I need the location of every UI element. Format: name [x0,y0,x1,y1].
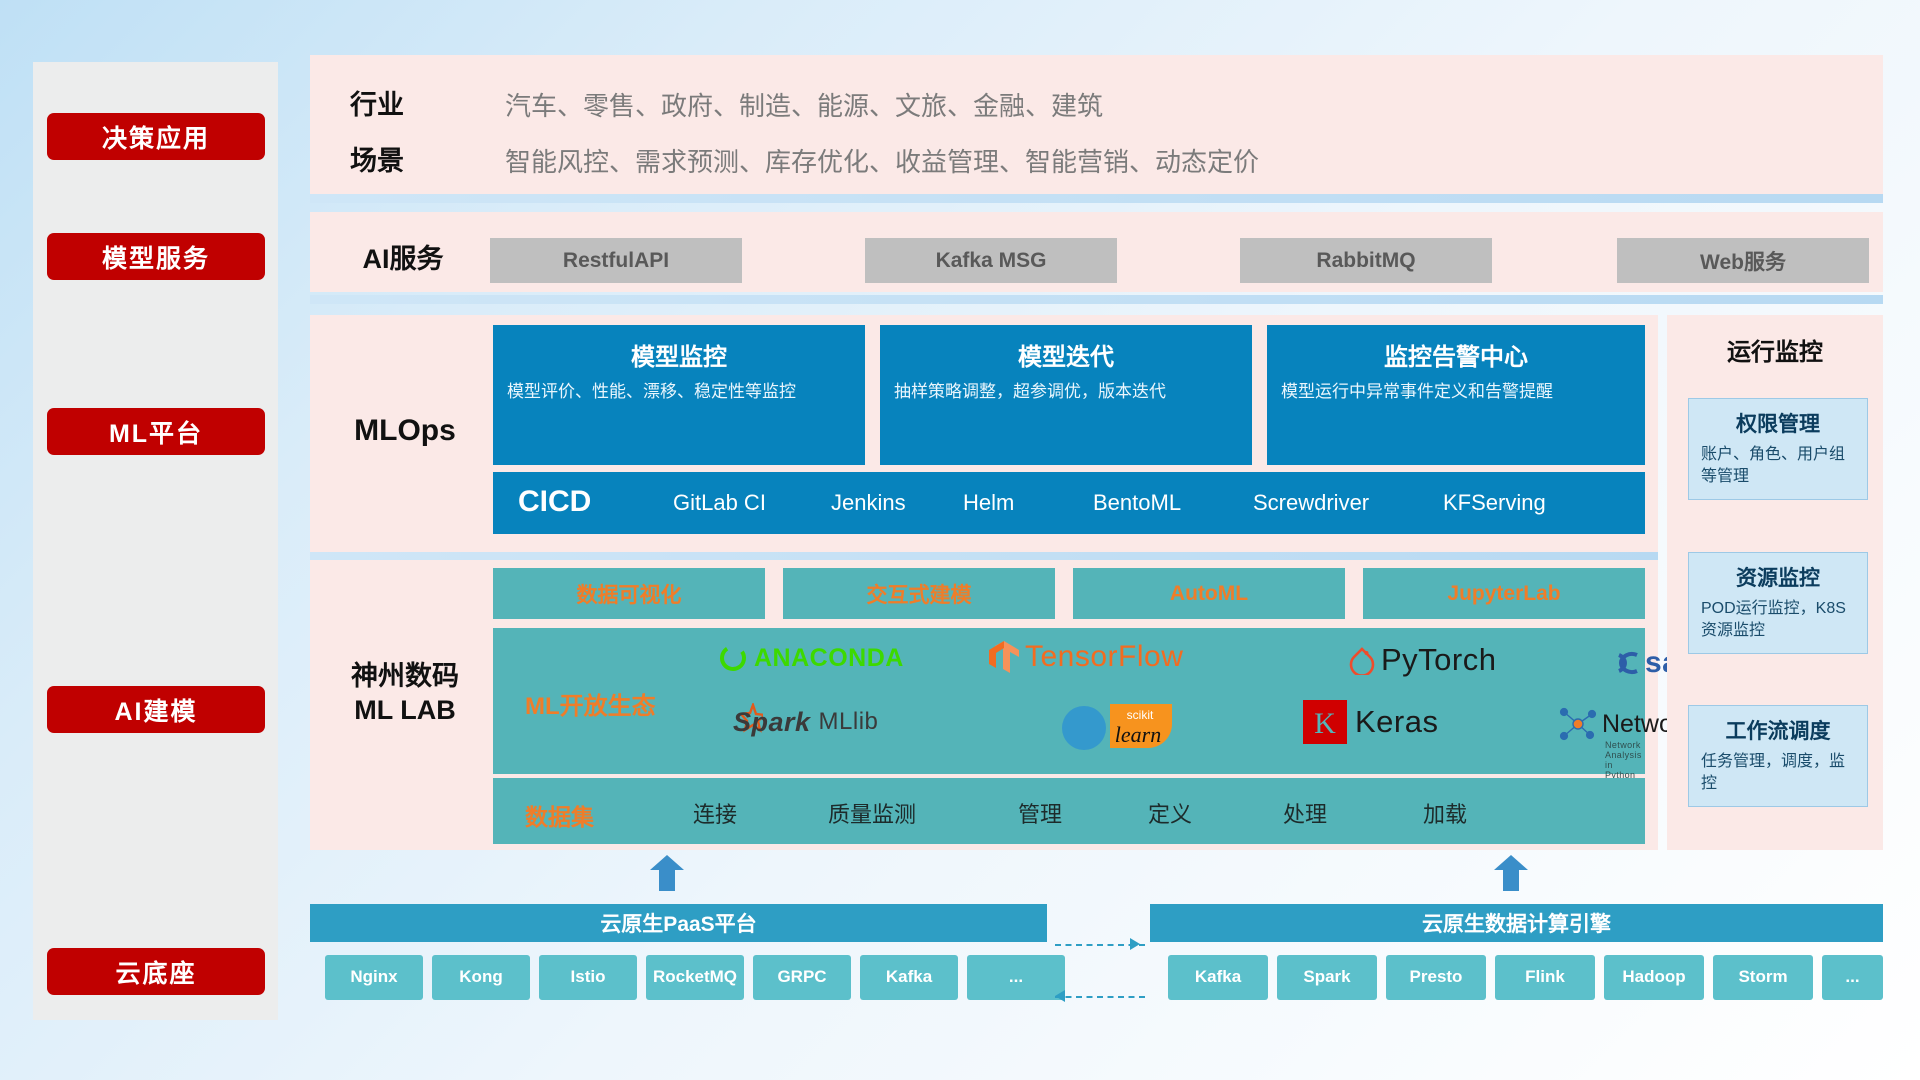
paas-up-arrow-icon [650,855,684,891]
dataset-label: 数据集 [525,798,594,832]
industry-value: 汽车、零售、政府、制造、能源、文旅、金融、建筑 [505,86,1103,123]
sas-icon [1613,649,1643,677]
connector-arrow-left-icon [1055,988,1071,1004]
scikit-learn-icon: scikit learn [1058,700,1184,752]
monitoring-card-desc: 任务管理，调度，监控 [1689,751,1867,806]
scenario-value: 智能风控、需求预测、库存优化、收益管理、智能营销、动态定价 [505,142,1259,179]
tensorflow-logo: TensorFlow [988,640,1183,674]
engine-chip-storm[interactable]: Storm [1713,955,1813,1000]
pytorch-label: PyTorch [1381,642,1496,678]
monitoring-card-title: 资源监控 [1689,562,1867,592]
tool-chip-interactive-modeling[interactable]: 交互式建模 [783,568,1055,619]
engine-up-arrow-icon [1494,855,1528,891]
engine-chip-spark[interactable]: Spark [1277,955,1377,1000]
monitoring-card-title: 工作流调度 [1689,715,1867,745]
ml-ecosystem-box: ML开放生态 ANACONDA TensorFlow PyTorch [493,628,1645,774]
keras-logo: K Keras [1303,700,1438,744]
tensorflow-label: TensorFlow [1025,640,1183,674]
service-chip-rabbitmq[interactable]: RabbitMQ [1240,238,1492,283]
keras-label: Keras [1355,704,1438,740]
service-chip-web[interactable]: Web服务 [1617,238,1869,283]
tool-chip-data-visualization[interactable]: 数据可视化 [493,568,765,619]
engine-chip-kafka[interactable]: Kafka [1168,955,1268,1000]
layer-chip-decision[interactable]: 决策应用 [47,113,265,160]
ai-service-label: AI服务 [338,243,468,277]
ml-lab-label-line1: 神州数码 [320,660,490,694]
dataset-item-quality-monitor[interactable]: 质量监测 [828,797,916,829]
engine-chip-flink[interactable]: Flink [1495,955,1595,1000]
anaconda-label: ANACONDA [754,644,904,673]
spark-label: Spark [733,707,811,738]
monitoring-card-title: 权限管理 [1689,408,1867,438]
band-separator-2 [310,295,1883,304]
tensorflow-icon [988,640,1020,674]
ml-lab-label-line2: ML LAB [320,694,490,728]
connector-arrow-right-icon [1130,936,1146,952]
paas-chip-kong[interactable]: Kong [432,955,530,1000]
anaconda-icon [718,643,748,673]
scikit-learn-logo: scikit learn [1058,700,1184,752]
service-chip-restfulapi[interactable]: RestfulAPI [490,238,742,283]
anaconda-logo: ANACONDA [718,643,904,673]
mlops-card-title: 监控告警中心 [1267,337,1645,372]
ml-ecosystem-label: ML开放生态 [525,686,656,721]
monitoring-card-workflow[interactable]: 工作流调度 任务管理，调度，监控 [1688,705,1868,807]
mlops-card-model-iteration[interactable]: 模型迭代 抽样策略调整，超参调优，版本迭代 [880,325,1252,465]
svg-text:scikit: scikit [1127,708,1154,722]
mlops-card-desc: 模型运行中异常事件定义和告警提醒 [1267,380,1645,405]
monitoring-card-desc: 账户、角色、用户组等管理 [1689,444,1867,499]
cicd-item-screwdriver[interactable]: Screwdriver [1253,490,1373,515]
networkx-icon [1556,704,1598,744]
cicd-bar: CICD GitLab CI Jenkins Helm BentoML Scre… [493,472,1645,534]
engine-chip-presto[interactable]: Presto [1386,955,1486,1000]
spark-mllib-logo: Spark MLlib [723,703,878,741]
dataset-item-connect[interactable]: 连接 [693,797,737,829]
cicd-item-jenkins[interactable]: Jenkins [831,490,951,515]
service-chip-kafka-msg[interactable]: Kafka MSG [865,238,1117,283]
architecture-diagram: 决策应用 模型服务 ML平台 AI建模 云底座 行业 汽车、零售、政府、制造、能… [0,0,1920,1080]
layer-chip-ai-modeling[interactable]: AI建模 [47,686,265,733]
layer-rail [33,62,278,1020]
pytorch-icon [1348,645,1376,675]
paas-chip-istio[interactable]: Istio [539,955,637,1000]
cicd-item-kfserving[interactable]: KFServing [1443,490,1563,515]
networkx-tagline: Network Analysis in Python [1605,740,1645,780]
cicd-item-gitlab-ci[interactable]: GitLab CI [673,490,793,515]
engine-chip-more[interactable]: ... [1822,955,1883,1000]
mlops-card-model-monitor[interactable]: 模型监控 模型评价、性能、漂移、稳定性等监控 [493,325,865,465]
monitoring-title: 运行监控 [1667,332,1883,367]
svg-text:K: K [1314,707,1336,740]
engine-header[interactable]: 云原生数据计算引擎 [1150,904,1883,942]
mlops-card-title: 模型迭代 [880,337,1252,372]
cicd-item-bentoml[interactable]: BentoML [1093,490,1213,515]
keras-icon: K [1303,700,1347,744]
paas-header[interactable]: 云原生PaaS平台 [310,904,1047,942]
ml-lab-label: 神州数码 ML LAB [320,660,490,728]
cicd-item-helm[interactable]: Helm [963,490,1083,515]
mlops-card-desc: 抽样策略调整，超参调优，版本迭代 [880,380,1252,405]
paas-chip-kafka[interactable]: Kafka [860,955,958,1000]
engine-chip-hadoop[interactable]: Hadoop [1604,955,1704,1000]
pytorch-logo: PyTorch [1348,642,1496,678]
mlops-card-desc: 模型评价、性能、漂移、稳定性等监控 [493,380,865,405]
layer-chip-model-service[interactable]: 模型服务 [47,233,265,280]
dataset-box: 数据集 连接 质量监测 管理 定义 处理 加载 [493,778,1645,844]
paas-chip-more[interactable]: ... [967,955,1065,1000]
tool-chip-jupyterlab[interactable]: JupyterLab [1363,568,1645,619]
layer-chip-cloud-base[interactable]: 云底座 [47,948,265,995]
paas-chip-grpc[interactable]: GRPC [753,955,851,1000]
layer-chip-ml-platform[interactable]: ML平台 [47,408,265,455]
dataset-item-define[interactable]: 定义 [1148,797,1192,829]
svg-text:learn: learn [1115,722,1161,747]
monitoring-card-permission[interactable]: 权限管理 账户、角色、用户组等管理 [1688,398,1868,500]
paas-chip-nginx[interactable]: Nginx [325,955,423,1000]
dataset-item-manage[interactable]: 管理 [1018,797,1062,829]
band-separator-1 [310,194,1883,203]
scenario-key: 场景 [350,139,460,178]
dataset-item-process[interactable]: 处理 [1283,797,1327,829]
mlops-card-alert-center[interactable]: 监控告警中心 模型运行中异常事件定义和告警提醒 [1267,325,1645,465]
mlops-card-title: 模型监控 [493,337,865,372]
industry-key: 行业 [350,83,460,122]
monitoring-card-resource[interactable]: 资源监控 POD运行监控，K8S资源监控 [1688,552,1868,654]
dataset-item-load[interactable]: 加载 [1423,797,1467,829]
monitoring-card-desc: POD运行监控，K8S资源监控 [1689,598,1867,653]
mllib-label: MLlib [819,708,879,736]
mlops-label: MLOps [330,412,480,450]
tool-chip-automl[interactable]: AutoML [1073,568,1345,619]
cicd-label: CICD [518,485,591,519]
paas-chip-rocketmq[interactable]: RocketMQ [646,955,744,1000]
